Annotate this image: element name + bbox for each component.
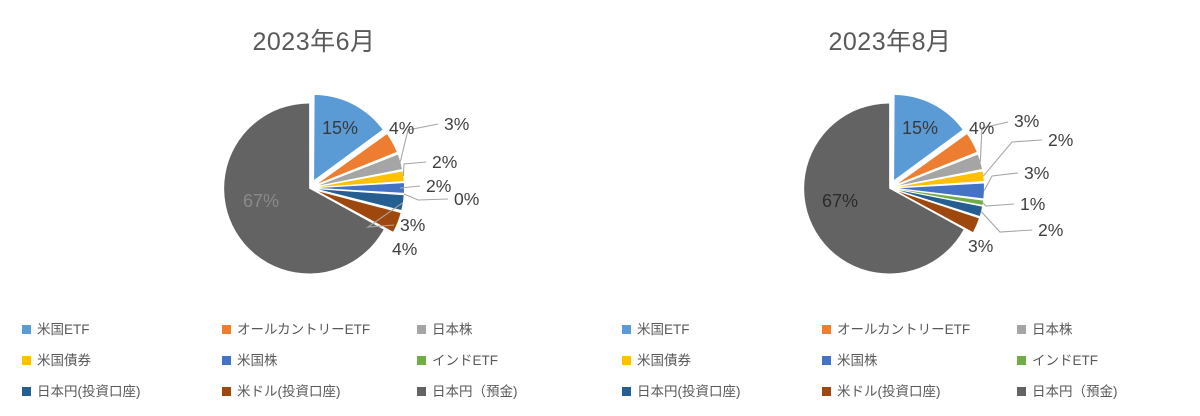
legend-item[interactable]: インドETF bbox=[417, 354, 577, 368]
legend-swatch-icon bbox=[22, 325, 31, 334]
slice-label-米ドル投資口座: 3% bbox=[968, 236, 993, 256]
legend-item-label: 日本円（預金) bbox=[1032, 385, 1118, 399]
legend-item-label: 日本円（預金) bbox=[432, 385, 518, 399]
leader-line bbox=[981, 211, 1032, 232]
slice-label-オールカントリーETF: 4% bbox=[389, 118, 414, 138]
slice-label-インドETF: 0% bbox=[454, 189, 479, 209]
legend-swatch-icon bbox=[622, 325, 631, 334]
legend-item-label: 日本株 bbox=[432, 323, 473, 337]
chart-panel-june: 2023年6月 15% 4% 3% 2% 2% 0% 3% 4% 67% 米国E… bbox=[0, 0, 600, 416]
slice-label-日本円預金: 67% bbox=[243, 191, 279, 211]
legend-item-label: インドETF bbox=[1032, 354, 1098, 368]
legend-swatch-icon bbox=[222, 325, 231, 334]
pie-svg-august: 15% 4% 3% 2% 3% 1% 2% 3% 67% bbox=[600, 72, 1200, 297]
legend-item-label: オールカントリーETF bbox=[237, 323, 370, 337]
slice-label-日本円投資口座: 2% bbox=[1038, 220, 1063, 240]
legend-item-label: 日本株 bbox=[1032, 323, 1073, 337]
legend-item-label: 米ドル(投資口座) bbox=[837, 385, 941, 399]
chart-title-august: 2023年8月 bbox=[590, 22, 1190, 58]
legend-item-label: 米国株 bbox=[837, 354, 878, 368]
legend-swatch-icon bbox=[22, 387, 31, 396]
pie-chart-august: 15% 4% 3% 2% 3% 1% 2% 3% 67% bbox=[600, 72, 1200, 297]
slice-label-インドETF: 1% bbox=[1020, 194, 1045, 214]
legend-june: 米国ETFオールカントリーETF日本株米国債券米国株インドETF日本円(投資口座… bbox=[0, 314, 600, 414]
legend-item[interactable]: オールカントリーETF bbox=[222, 323, 417, 337]
legend-item-label: 米国株 bbox=[237, 354, 278, 368]
legend-item[interactable]: 日本円(投資口座) bbox=[622, 385, 822, 399]
slice-label-米国ETF: 15% bbox=[322, 118, 358, 138]
legend-item-label: 日本円(投資口座) bbox=[637, 385, 741, 399]
legend-item[interactable]: 米ドル(投資口座) bbox=[222, 385, 417, 399]
leader-line bbox=[983, 203, 1014, 206]
pie-chart-june: 15% 4% 3% 2% 2% 0% 3% 4% 67% bbox=[0, 72, 600, 297]
legend-swatch-icon bbox=[417, 387, 426, 396]
pie-slice-group bbox=[804, 95, 984, 274]
legend-item-label: インドETF bbox=[432, 354, 498, 368]
leader-line bbox=[403, 162, 426, 176]
legend-item[interactable]: 米国債券 bbox=[22, 354, 222, 368]
legend-swatch-icon bbox=[1017, 325, 1026, 334]
legend-swatch-icon bbox=[1017, 356, 1026, 365]
legend-swatch-icon bbox=[822, 356, 831, 365]
legend-item-label: 米国ETF bbox=[37, 323, 90, 337]
legend-swatch-icon bbox=[222, 387, 231, 396]
legend-swatch-icon bbox=[417, 325, 426, 334]
legend-item[interactable]: 日本円(投資口座) bbox=[22, 385, 222, 399]
chart-panel-august: 2023年8月 15% 4% 3% 2% 3% 1% 2% 3% 67% 米国E… bbox=[600, 0, 1200, 416]
slice-label-オールカントリーETF: 4% bbox=[969, 118, 994, 138]
legend-item[interactable]: 米国債券 bbox=[622, 354, 822, 368]
legend-swatch-icon bbox=[822, 387, 831, 396]
legend-item[interactable]: 米国ETF bbox=[622, 323, 822, 337]
pie-slice-group bbox=[224, 95, 404, 274]
legend-item-label: 米国債券 bbox=[37, 354, 91, 368]
legend-swatch-icon bbox=[622, 356, 631, 365]
legend-item-label: 米国ETF bbox=[637, 323, 690, 337]
legend-swatch-icon bbox=[417, 356, 426, 365]
legend-item[interactable]: オールカントリーETF bbox=[822, 323, 1017, 337]
legend-item[interactable]: 日本円（預金) bbox=[417, 385, 577, 399]
chart-canvas: 2023年6月 15% 4% 3% 2% 2% 0% 3% 4% 67% 米国E… bbox=[0, 0, 1200, 416]
slice-label-米国株: 3% bbox=[1024, 163, 1049, 183]
legend-swatch-icon bbox=[622, 387, 631, 396]
leader-line bbox=[984, 173, 1018, 191]
slice-label-米ドル投資口座: 4% bbox=[392, 239, 417, 259]
legend-item[interactable]: 米国株 bbox=[222, 354, 417, 368]
legend-item-label: 米ドル(投資口座) bbox=[237, 385, 341, 399]
slice-label-日本株: 3% bbox=[1014, 111, 1039, 131]
slice-label-米国ETF: 15% bbox=[902, 118, 938, 138]
legend-item[interactable]: 米ドル(投資口座) bbox=[822, 385, 1017, 399]
legend-item-label: オールカントリーETF bbox=[837, 323, 970, 337]
chart-title-june: 2023年6月 bbox=[14, 22, 614, 58]
slice-label-日本円投資口座: 3% bbox=[400, 215, 425, 235]
slice-label-日本円預金: 67% bbox=[822, 191, 858, 211]
legend-item[interactable]: 米国ETF bbox=[22, 323, 222, 337]
legend-item-label: 日本円(投資口座) bbox=[37, 385, 141, 399]
legend-item-label: 米国債券 bbox=[637, 354, 691, 368]
legend-item[interactable]: 日本株 bbox=[1017, 323, 1177, 337]
legend-august: 米国ETFオールカントリーETF日本株米国債券米国株インドETF日本円(投資口座… bbox=[600, 314, 1200, 414]
legend-swatch-icon bbox=[1017, 387, 1026, 396]
slice-label-米国債券: 2% bbox=[432, 152, 457, 172]
pie-svg-june: 15% 4% 3% 2% 2% 0% 3% 4% 67% bbox=[0, 72, 600, 297]
legend-item[interactable]: インドETF bbox=[1017, 354, 1177, 368]
legend-item[interactable]: 日本円（預金) bbox=[1017, 385, 1177, 399]
legend-swatch-icon bbox=[222, 356, 231, 365]
slice-label-米国債券: 2% bbox=[1048, 130, 1073, 150]
legend-item[interactable]: 日本株 bbox=[417, 323, 577, 337]
legend-item[interactable]: 米国株 bbox=[822, 354, 1017, 368]
legend-swatch-icon bbox=[22, 356, 31, 365]
slice-label-米国株: 2% bbox=[426, 176, 451, 196]
legend-swatch-icon bbox=[822, 325, 831, 334]
slice-label-日本株: 3% bbox=[444, 114, 469, 134]
